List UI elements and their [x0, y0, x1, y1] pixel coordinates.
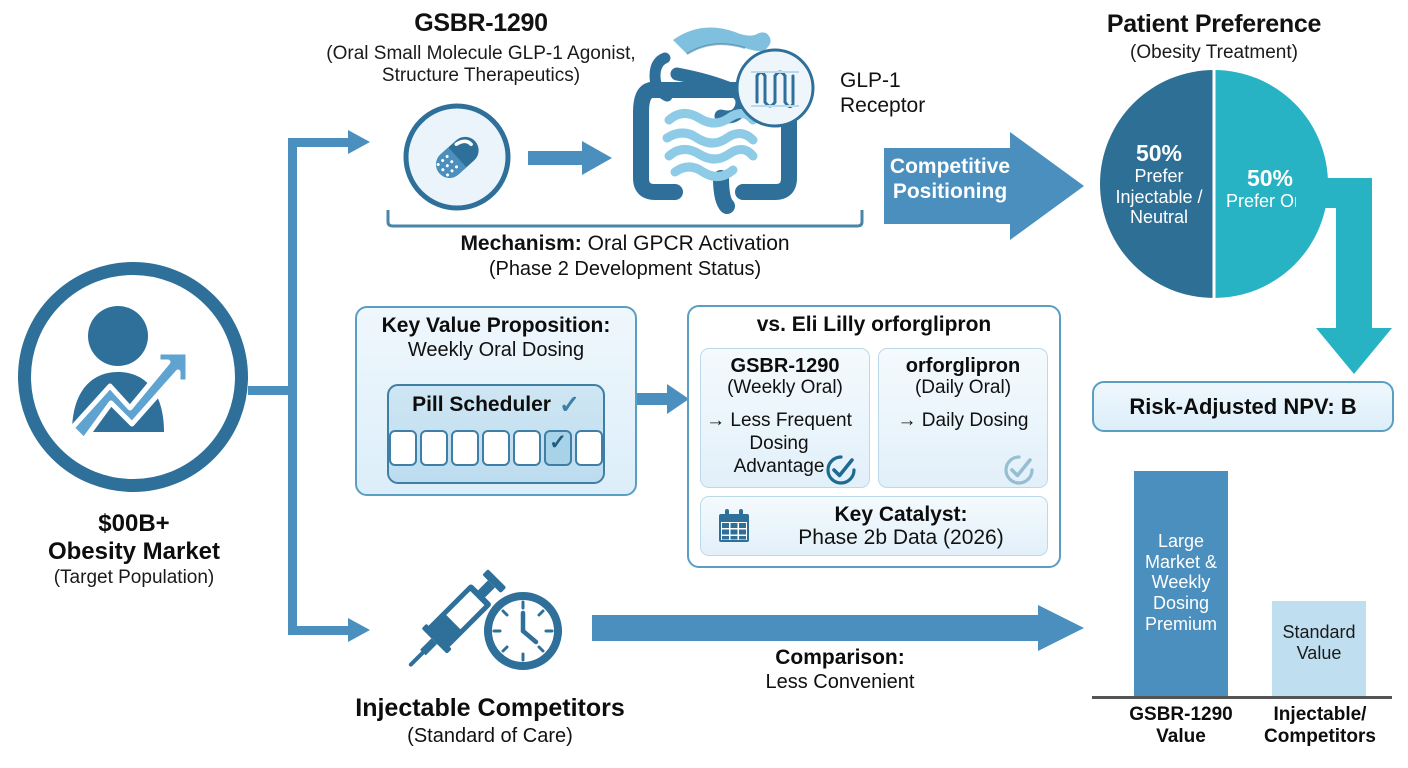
bcg0: GSBR-1290	[1116, 704, 1246, 726]
check-circle-icon-faded	[1004, 455, 1034, 485]
npv-label: Risk-Adjusted NPV: B	[1129, 394, 1356, 420]
receptor-line2: Receptor	[840, 93, 960, 118]
arrow-kvp-to-comparison	[637, 383, 689, 415]
comparison-title: vs. Eli Lilly orforglipron	[689, 313, 1059, 337]
bar-injectable: Standard Value	[1272, 601, 1366, 696]
pie-inj-pct: 50%	[1106, 140, 1212, 166]
bar-gsbr-label: Large Market & Weekly Dosing Premium	[1134, 471, 1228, 634]
comparison-orf-detail: → Daily Dosing	[880, 409, 1046, 432]
pill-scheduler-cells[interactable]: ✓	[389, 430, 603, 466]
pie-inj-l3: Neutral	[1106, 207, 1212, 228]
cp-line2: Positioning	[886, 180, 1014, 205]
pie-slice-injectable-label: 50% Prefer Injectable / Neutral	[1106, 140, 1212, 228]
pp-title: Patient Preference	[1084, 10, 1344, 39]
bg1: Market &	[1134, 552, 1228, 573]
pill-cell[interactable]	[575, 430, 603, 466]
bar-chart-axis	[1092, 696, 1392, 699]
pill-scheduler-widget[interactable]: Pill Scheduler ✓ ✓	[387, 384, 605, 484]
pill-scheduler-title: Pill Scheduler	[412, 393, 551, 417]
ca-line1: Comparison:	[680, 645, 1000, 670]
kvp-title-text: Key Value Proposition:	[357, 314, 635, 338]
arrow-head-bottom	[348, 618, 370, 642]
competitive-positioning-label: Competitive Positioning	[886, 155, 1014, 205]
pie-inj-l2: Injectable /	[1106, 187, 1212, 208]
receptor-line1: GLP-1	[840, 68, 960, 93]
bi0: Standard	[1272, 622, 1366, 643]
person-growth-chart-icon	[58, 300, 208, 460]
bg3: Dosing	[1134, 593, 1228, 614]
pill-cell[interactable]	[451, 430, 479, 466]
capsule-pill-icon	[403, 103, 511, 211]
value-bar-chart: Large Market & Weekly Dosing Premium Sta…	[1092, 466, 1392, 766]
bar-gsbr: Large Market & Weekly Dosing Premium	[1134, 471, 1228, 696]
comparison-gsbr-name: GSBR-1290	[702, 355, 868, 378]
pill-cell[interactable]	[513, 430, 541, 466]
bi1: Value	[1272, 643, 1366, 664]
mechanism-value: Oral GPCR Activation	[582, 232, 790, 255]
connector-branch-top	[288, 138, 350, 147]
pill-cell[interactable]	[482, 430, 510, 466]
comparison-arrow-label: Comparison: Less Convenient	[680, 645, 1000, 694]
obesity-market-label: $00B+ Obesity Market (Target Population)	[0, 510, 268, 589]
arrow-pill-to-gi	[528, 140, 612, 176]
mechanism-label: Mechanism:	[460, 232, 581, 255]
connector-branch-bottom	[288, 626, 350, 635]
inj-sub: (Standard of Care)	[320, 725, 660, 748]
bcg1: Value	[1116, 726, 1246, 748]
pill-cell[interactable]	[420, 430, 448, 466]
kvp-subtitle-text: Weekly Oral Dosing	[357, 339, 635, 362]
bg0: Large	[1134, 531, 1228, 552]
patient-preference-heading: Patient Preference (Obesity Treatment)	[1084, 10, 1344, 64]
comparison-orf-name: orforglipron	[880, 355, 1046, 378]
mechanism-status: (Phase 2 Development Status)	[386, 258, 864, 281]
inj-title: Injectable Competitors	[320, 694, 660, 723]
arrow-pie-to-npv	[1296, 178, 1396, 374]
market-value: $00B+	[0, 510, 268, 538]
bci1: Competitors	[1252, 726, 1388, 748]
pp-subtitle: (Obesity Treatment)	[1084, 42, 1344, 64]
connector-trunk	[288, 138, 297, 635]
bar-injectable-label: Standard Value	[1272, 601, 1366, 663]
injectable-competitors-label: Injectable Competitors (Standard of Care…	[320, 694, 660, 748]
market-name: Obesity Market	[0, 538, 268, 566]
cp-line1: Competitive	[886, 155, 1014, 180]
mechanism-bracket	[386, 210, 864, 228]
clock-icon	[480, 588, 566, 674]
pill-scheduler-check-icon: ✓	[559, 393, 580, 418]
bg2: Weekly	[1134, 572, 1228, 593]
mechanism-text: Mechanism: Oral GPCR Activation (Phase 2…	[386, 232, 864, 281]
check-circle-icon	[826, 455, 856, 485]
bg4: Premium	[1134, 614, 1228, 635]
ca-line2: Less Convenient	[680, 670, 1000, 694]
glp1-receptor-label: GLP-1 Receptor	[840, 68, 960, 118]
comparison-orf-dosing: (Daily Oral)	[880, 377, 1046, 399]
calendar-icon	[712, 505, 756, 549]
key-catalyst-label: Key Catalyst:	[760, 503, 1042, 527]
pie-inj-l1: Prefer	[1106, 166, 1212, 187]
key-catalyst-value: Phase 2b Data (2026)	[760, 526, 1042, 550]
kvp-title: Key Value Proposition: Weekly Oral Dosin…	[357, 314, 635, 362]
comparison-gsbr-dosing: (Weekly Oral)	[702, 377, 868, 399]
infographic-canvas: $00B+ Obesity Market (Target Population)…	[0, 0, 1408, 768]
risk-adjusted-npv-box: Risk-Adjusted NPV: B	[1092, 381, 1394, 432]
bci0: Injectable/	[1252, 704, 1388, 726]
bar-cat-injectable: Injectable/ Competitors	[1252, 704, 1388, 748]
patient-preference-pie-chart: 50% Prefer Injectable / Neutral 50% Pref…	[1100, 70, 1328, 298]
bar-cat-gsbr: GSBR-1290 Value	[1116, 704, 1246, 748]
market-sub: (Target Population)	[0, 567, 268, 589]
gastrointestinal-tract-icon	[625, 28, 815, 210]
pill-cell-checked[interactable]: ✓	[544, 430, 572, 466]
pill-cell[interactable]	[389, 430, 417, 466]
arrow-head-top	[348, 130, 370, 154]
